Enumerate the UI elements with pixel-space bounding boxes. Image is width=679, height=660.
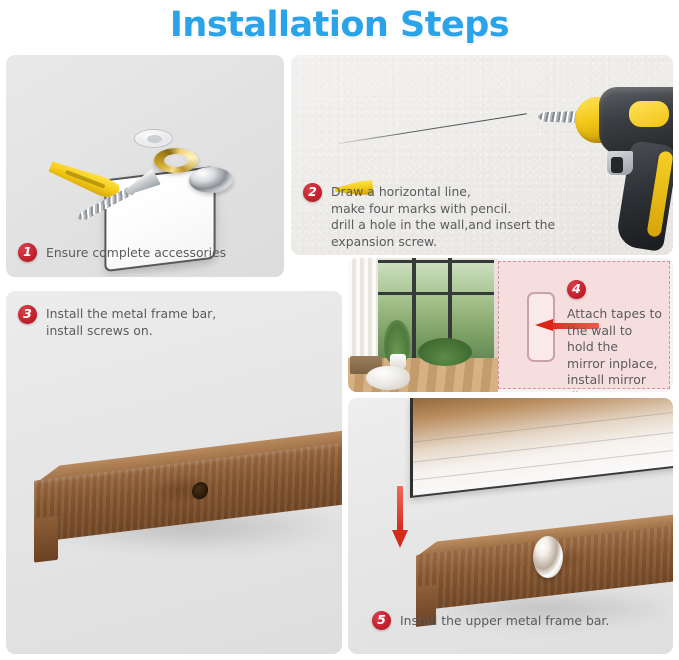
down-arrow-icon (392, 486, 408, 548)
bar-end-lip (34, 516, 58, 563)
arrow-tip (392, 530, 408, 548)
step-2-badge: 2 (303, 183, 322, 202)
step-2-caption: 2 Draw a horizontal line, make four mark… (303, 183, 555, 250)
step-1-badge: 1 (18, 243, 37, 262)
shrub (418, 338, 472, 366)
step-5-badge: 5 (372, 611, 391, 630)
arrow-shaft (397, 486, 403, 532)
step-1-text: Ensure complete accessories (46, 243, 226, 262)
step-1-caption: 1 Ensure complete accessories (18, 243, 226, 262)
window-mullion (412, 258, 416, 362)
power-drill (537, 79, 673, 255)
step-4-panel: 4 Attach tapes to the wall to hold the m… (348, 258, 673, 392)
arrow-tip (535, 319, 553, 331)
drill-trigger-inner (611, 157, 623, 173)
step-3-panel: 3 Install the metal frame bar, install s… (6, 291, 342, 654)
step-4-caption: 4 Attach tapes to the wall to hold the m… (567, 280, 673, 392)
step-2-panel: 2 Draw a horizontal line, make four mark… (291, 55, 673, 255)
chrome-cap (533, 536, 563, 578)
room-photo (348, 258, 498, 392)
installation-steps-infographic: Installation Steps 1 Ensure complete acc… (0, 0, 679, 660)
page-title: Installation Steps (170, 5, 509, 45)
step-5-caption: 5 Install the upper metal frame bar. (372, 611, 609, 630)
step-4-text: Attach tapes to the wall to hold the mir… (567, 305, 673, 392)
step-1-panel: 1 Ensure complete accessories (6, 55, 284, 277)
mirror-seam (413, 449, 673, 480)
mirror-seam (413, 411, 673, 442)
window-mullion (376, 292, 494, 295)
page-title-bar: Installation Steps (0, 0, 679, 50)
step-3-caption: 3 Install the metal frame bar, install s… (18, 305, 216, 339)
bean-bag (366, 366, 410, 390)
step-3-text: Install the metal frame bar, install scr… (46, 305, 216, 339)
chrome-cap (189, 167, 233, 193)
curtain (348, 258, 378, 370)
mirror-tile (410, 398, 673, 498)
gold-ring (154, 148, 198, 173)
drill-body-accent (629, 101, 669, 127)
clear-washer (134, 129, 173, 148)
step-5-text: Install the upper metal frame bar. (400, 611, 609, 630)
window-mullion (376, 260, 494, 263)
step-5-panel: 5 Install the upper metal frame bar. (348, 398, 673, 654)
step-3-badge: 3 (18, 305, 37, 324)
step-2-text: Draw a horizontal line, make four marks … (331, 183, 555, 250)
step-4-badge: 4 (567, 280, 586, 299)
